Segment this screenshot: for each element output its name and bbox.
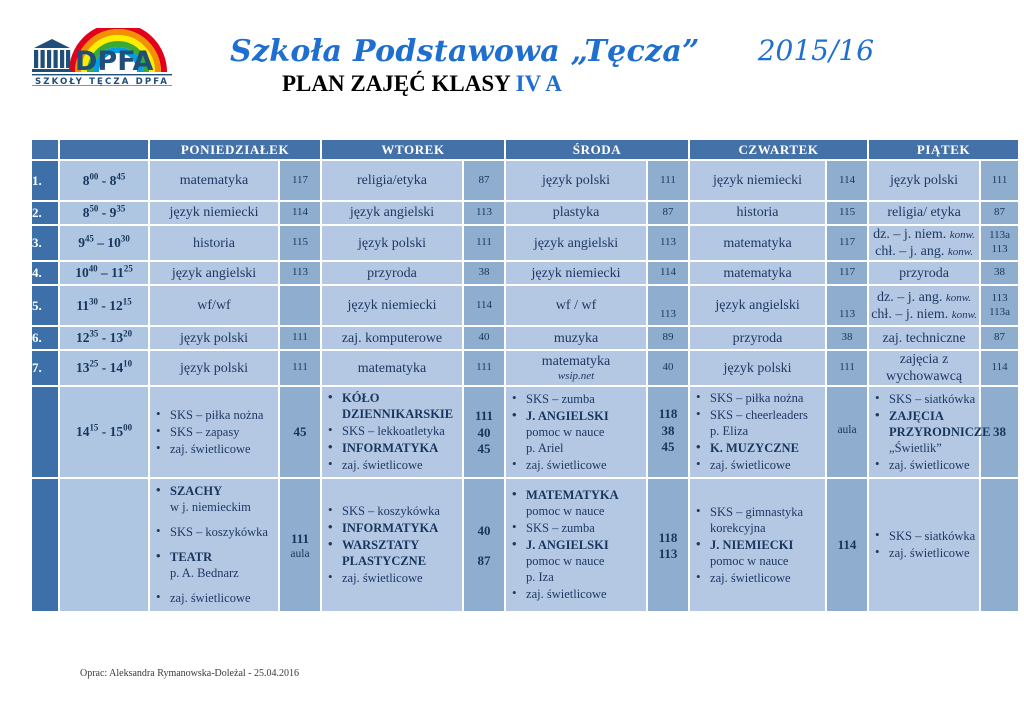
activity-list: SKS – siatkówkazaj. świetlicowe: [869, 528, 979, 561]
room-number: 118: [648, 530, 688, 546]
activity-room-cell: 4087: [464, 479, 504, 611]
lesson-time: 850 - 935: [60, 202, 148, 224]
activity-item: w j. niemieckim: [150, 499, 278, 515]
activity-item: SKS – zapasy: [150, 424, 278, 440]
lesson-subject-cell[interactable]: matematykawsip.net: [506, 351, 646, 385]
activity-room-cell: [981, 479, 1018, 611]
activity-item: K. MUZYCZNE: [690, 440, 825, 456]
lesson-subject-cell[interactable]: język polski: [506, 161, 646, 200]
lesson-subject-cell[interactable]: matematyka: [690, 226, 825, 260]
room-number-cell: 111: [280, 351, 320, 385]
plan-subtitle-prefix: PLAN ZAJĘĆ KLASY: [282, 71, 510, 96]
lesson-subject-cell[interactable]: język angielski: [150, 262, 278, 284]
activity-item: korekcyjna: [690, 520, 825, 536]
lesson-row: 5.1130 - 1215wf/wfjęzyk niemiecki114wf /…: [32, 286, 1018, 325]
lesson-subject-cell[interactable]: język polski: [690, 351, 825, 385]
activity-number: [32, 387, 58, 477]
lesson-subject-cell[interactable]: historia: [150, 226, 278, 260]
room-number-cell: 113a113: [981, 226, 1018, 260]
room-number-cell: 111: [648, 161, 688, 200]
document-header: DPFA SZKOŁY TĘCZA DPFA Szkoła Podstawowa…: [0, 0, 1024, 110]
lesson-number: 7.: [32, 351, 58, 385]
day-header-monday: PONIEDZIAŁEK: [150, 140, 320, 159]
activity-item: zaj. świetlicowe: [690, 457, 825, 473]
lesson-subject-cell[interactable]: zaj. komputerowe: [322, 327, 462, 349]
activity-item: SKS – cheerleaders: [690, 407, 825, 423]
activity-item: pomoc w nauce: [690, 553, 825, 569]
day-header-wednesday: ŚRODA: [506, 140, 688, 159]
timetable: PONIEDZIAŁEK WTOREK ŚRODA CZWARTEK PIĄTE…: [30, 138, 1020, 613]
activity-item: zaj. świetlicowe: [322, 457, 462, 473]
lesson-subject-cell[interactable]: język niemiecki: [506, 262, 646, 284]
activity-list: KÓŁODZIENNIKARSKIESKS – lekkoatletykaINF…: [322, 390, 462, 473]
room-number-cell: 87: [648, 202, 688, 224]
lesson-subject-cell[interactable]: język niemiecki: [150, 202, 278, 224]
room-number-cell: [280, 286, 320, 325]
activity-row: 1415 - 1500SKS – piłka nożnaSKS – zapasy…: [32, 387, 1018, 477]
activity-item: SKS – zumba: [506, 520, 646, 536]
class-name: IV A: [516, 71, 562, 96]
activity-time: [60, 479, 148, 611]
timetable-head: PONIEDZIAŁEK WTOREK ŚRODA CZWARTEK PIĄTE…: [32, 140, 1018, 159]
activity-item: DZIENNIKARSKIE: [322, 406, 462, 422]
activity-item: PRZYRODNICZE: [869, 424, 979, 440]
lesson-time: 800 - 845: [60, 161, 148, 200]
activity-room-cell: aula: [827, 387, 867, 477]
lesson-row: 1.800 - 845matematyka117religia/etyka87j…: [32, 161, 1018, 200]
lesson-number: 6.: [32, 327, 58, 349]
activity-item: SKS – koszykówka: [150, 524, 278, 540]
room-number: 113: [648, 546, 688, 562]
dpfa-rainbow-logo: DPFA SZKOŁY TĘCZA DPFA: [30, 28, 205, 86]
lesson-row: 6.1235 - 1320język polski111zaj. kompute…: [32, 327, 1018, 349]
lesson-subject-cell[interactable]: język angielski: [322, 202, 462, 224]
lesson-row: 2.850 - 935język niemiecki114język angie…: [32, 202, 1018, 224]
room-number-cell: 111: [464, 226, 504, 260]
room-number-cell: 114: [280, 202, 320, 224]
room-number: 38: [648, 423, 688, 439]
header-row: PONIEDZIAŁEK WTOREK ŚRODA CZWARTEK PIĄTE…: [32, 140, 1018, 159]
activity-list: SKS – gimnastykakorekcyjnaJ. NIEMIECKIpo…: [690, 504, 825, 586]
room-number: aula: [827, 423, 867, 437]
activity-list: SKS – piłka nożnaSKS – cheerleadersp. El…: [690, 390, 825, 473]
activity-item: zaj. świetlicowe: [150, 590, 278, 606]
activity-item: PLASTYCZNE: [322, 553, 462, 569]
school-title: Szkoła Podstawowa „Tęcza”: [230, 34, 700, 69]
activity-item: SKS – koszykówka: [322, 503, 462, 519]
room-number: 114: [827, 537, 867, 553]
title-block: Szkoła Podstawowa „Tęcza”2015/16 PLAN ZA…: [230, 34, 930, 97]
header-blank-time: [60, 140, 148, 159]
timetable-body: 1.800 - 845matematyka117religia/etyka87j…: [32, 161, 1018, 611]
activity-list: SKS – piłka nożnaSKS – zapasyzaj. świetl…: [150, 407, 278, 457]
lesson-subject-cell[interactable]: plastyka: [506, 202, 646, 224]
room-number-cell: 114: [648, 262, 688, 284]
room-number-cell: 113113a: [981, 286, 1018, 325]
activity-cell[interactable]: SKS – piłka nożnaSKS – zapasyzaj. świetl…: [150, 387, 278, 477]
activity-cell[interactable]: MATEMATYKApomoc w nauceSKS – zumbaJ. ANG…: [506, 479, 646, 611]
room-number-cell: 117: [827, 262, 867, 284]
lesson-row: 3.945 – 1030historia115język polski111ję…: [32, 226, 1018, 260]
activity-item: SKS – piłka nożna: [150, 407, 278, 423]
room-number-cell: 117: [827, 226, 867, 260]
lesson-subject-cell[interactable]: język polski: [869, 161, 979, 200]
room-number-cell: 89: [648, 327, 688, 349]
room-number-cell: 38: [981, 262, 1018, 284]
lesson-row: 7.1325 - 1410język polski111matematyka11…: [32, 351, 1018, 385]
activity-item: SKS – piłka nożna: [690, 390, 825, 406]
activity-item: TEATR: [150, 549, 278, 565]
lesson-subject-cell[interactable]: religia/etyka: [322, 161, 462, 200]
lesson-subject-cell[interactable]: wf / wf: [506, 286, 646, 325]
lesson-number: 1.: [32, 161, 58, 200]
activity-item: INFORMATYKA: [322, 520, 462, 536]
activity-item: „Świetlik”: [869, 440, 979, 456]
activity-cell[interactable]: SKS – gimnastykakorekcyjnaJ. NIEMIECKIpo…: [690, 479, 825, 611]
lesson-number: 4.: [32, 262, 58, 284]
header-blank-no: [32, 140, 58, 159]
lesson-subject-cell[interactable]: zaj. techniczne: [869, 327, 979, 349]
room-number-cell: 40: [648, 351, 688, 385]
lesson-subject-cell[interactable]: zajęcia zwychowawcą: [869, 351, 979, 385]
activity-item: p. A. Bednarz: [150, 565, 278, 581]
room-number-cell: 38: [464, 262, 504, 284]
activity-item: SKS – gimnastyka: [690, 504, 825, 520]
room-number-cell: 115: [280, 226, 320, 260]
room-number-cell: 87: [981, 202, 1018, 224]
activity-item: pomoc w nauce: [506, 553, 646, 569]
room-number-cell: 113: [648, 226, 688, 260]
lesson-subject-cell[interactable]: język angielski: [690, 286, 825, 325]
activity-item: INFORMATYKA: [322, 440, 462, 456]
activity-cell[interactable]: SKS – piłka nożnaSKS – cheerleadersp. El…: [690, 387, 825, 477]
lesson-number: 3.: [32, 226, 58, 260]
activity-item: ZAJĘCIA: [869, 408, 979, 424]
activity-item: p. Iza: [506, 569, 646, 585]
room-number-cell: 111: [981, 161, 1018, 200]
lesson-subject-cell[interactable]: przyroda: [322, 262, 462, 284]
footer-credit: Oprac: Aleksandra Rymanowska-Doleżal - 2…: [80, 668, 299, 679]
room-number: 45: [464, 441, 504, 457]
lesson-time: 1325 - 1410: [60, 351, 148, 385]
activity-list: SKS – koszykówkaINFORMATYKAWARSZTATYPLAS…: [322, 503, 462, 586]
lesson-subject-cell[interactable]: przyroda: [869, 262, 979, 284]
room-number: 111: [280, 531, 320, 547]
lesson-subject-cell[interactable]: język niemiecki: [690, 161, 825, 200]
logo-tagline-text: SZKOŁY TĘCZA DPFA: [35, 77, 169, 86]
lesson-time: 1235 - 1320: [60, 327, 148, 349]
lesson-subject-cell[interactable]: matematyka: [150, 161, 278, 200]
plan-subtitle: PLAN ZAJĘĆ KLASY IV A: [282, 71, 930, 97]
room-number-cell: 113: [648, 286, 688, 325]
activity-item: SKS – siatkówka: [869, 528, 979, 544]
room-number-cell: 114: [827, 161, 867, 200]
room-number-cell: 114: [464, 286, 504, 325]
lesson-number: 5.: [32, 286, 58, 325]
activity-item: pomoc w nauce: [506, 503, 646, 519]
activity-item: J. ANGIELSKI: [506, 537, 646, 553]
activity-cell[interactable]: SKS – zumbaJ. ANGIELSKIpomoc w naucep. A…: [506, 387, 646, 477]
room-number: 40: [464, 425, 504, 441]
activity-item: zaj. świetlicowe: [150, 441, 278, 457]
lesson-subject-cell[interactable]: język angielski: [506, 226, 646, 260]
activity-room-cell: 1183845: [648, 387, 688, 477]
activity-number: [32, 479, 58, 611]
lesson-subject-cell[interactable]: przyroda: [690, 327, 825, 349]
lesson-subject-cell[interactable]: matematyka: [322, 351, 462, 385]
room-number: 111: [464, 408, 504, 424]
activity-room-cell: 1114045: [464, 387, 504, 477]
room-number-cell: 114: [981, 351, 1018, 385]
room-number-cell: 113: [280, 262, 320, 284]
room-number-cell: 113: [827, 286, 867, 325]
activity-item: zaj. świetlicowe: [506, 586, 646, 602]
timetable-wrap: PONIEDZIAŁEK WTOREK ŚRODA CZWARTEK PIĄTE…: [30, 138, 994, 613]
activity-room-cell: 114: [827, 479, 867, 611]
activity-cell[interactable]: SKS – koszykówkaINFORMATYKAWARSZTATYPLAS…: [322, 479, 462, 611]
lesson-time: 945 – 1030: [60, 226, 148, 260]
room-number-cell: 113: [464, 202, 504, 224]
room-number: 40: [464, 523, 504, 539]
activity-cell[interactable]: KÓŁODZIENNIKARSKIESKS – lekkoatletykaINF…: [322, 387, 462, 477]
school-year: 2015/16: [758, 34, 874, 67]
room-number-cell: 111: [827, 351, 867, 385]
activity-item: MATEMATYKA: [506, 487, 646, 503]
lesson-row: 4.1040 – 1125język angielski113przyroda3…: [32, 262, 1018, 284]
logo-brand-text: DPFA: [75, 46, 154, 77]
lesson-subject-cell[interactable]: historia: [690, 202, 825, 224]
activity-item: zaj. świetlicowe: [869, 545, 979, 561]
activity-room-cell: 118113: [648, 479, 688, 611]
day-header-tuesday: WTOREK: [322, 140, 504, 159]
room-number-cell: 87: [464, 161, 504, 200]
activity-item: SKS – siatkówka: [869, 391, 979, 407]
activity-row: SZACHYw j. niemieckimSKS – koszykówkaTEA…: [32, 479, 1018, 611]
activity-item: zaj. świetlicowe: [869, 457, 979, 473]
activity-item: zaj. świetlicowe: [322, 570, 462, 586]
room-number-cell: 115: [827, 202, 867, 224]
activity-time: 1415 - 1500: [60, 387, 148, 477]
activity-list: MATEMATYKApomoc w nauceSKS – zumbaJ. ANG…: [506, 487, 646, 602]
activity-item: J. NIEMIECKI: [690, 537, 825, 553]
timetable-document: DPFA SZKOŁY TĘCZA DPFA Szkoła Podstawowa…: [0, 0, 1024, 725]
lesson-subject-cell[interactable]: język polski: [322, 226, 462, 260]
room-number: 118: [648, 406, 688, 422]
activity-cell[interactable]: SZACHYw j. niemieckimSKS – koszykówkaTEA…: [150, 479, 278, 611]
lesson-subject-cell[interactable]: język niemiecki: [322, 286, 462, 325]
room-number-cell: 111: [464, 351, 504, 385]
lesson-subject-cell[interactable]: wf/wf: [150, 286, 278, 325]
activity-item: zaj. świetlicowe: [506, 457, 646, 473]
activity-item: zaj. świetlicowe: [690, 570, 825, 586]
day-header-friday: PIĄTEK: [869, 140, 1018, 159]
lesson-subject-cell[interactable]: religia/ etyka: [869, 202, 979, 224]
activity-room-cell: 45: [280, 387, 320, 477]
room-number: aula: [280, 547, 320, 561]
lesson-subject-cell[interactable]: dz. – j. niem. konw.chł. – j. ang. konw.: [869, 226, 979, 260]
lesson-time: 1130 - 1215: [60, 286, 148, 325]
day-header-thursday: CZWARTEK: [690, 140, 867, 159]
activity-item: WARSZTATY: [322, 537, 462, 553]
activity-item: SKS – lekkoatletyka: [322, 423, 462, 439]
room-number-cell: 111: [280, 327, 320, 349]
lesson-subject-cell[interactable]: muzyka: [506, 327, 646, 349]
activity-item: J. ANGIELSKI: [506, 408, 646, 424]
activity-item: SZACHY: [150, 483, 278, 499]
room-number-cell: 38: [827, 327, 867, 349]
room-number-cell: 117: [280, 161, 320, 200]
activity-item: SKS – zumba: [506, 391, 646, 407]
lesson-subject-cell[interactable]: język polski: [150, 327, 278, 349]
activity-list: SKS – siatkówkaZAJĘCIAPRZYRODNICZE„Świet…: [869, 391, 979, 473]
activity-item: p. Eliza: [690, 423, 825, 439]
room-number-cell: 87: [981, 327, 1018, 349]
lesson-subject-cell[interactable]: język polski: [150, 351, 278, 385]
lesson-time: 1040 – 1125: [60, 262, 148, 284]
room-number: 45: [280, 424, 320, 440]
room-number-cell: 40: [464, 327, 504, 349]
activity-item: pomoc w nauce: [506, 424, 646, 440]
lesson-number: 2.: [32, 202, 58, 224]
activity-room-cell: 111aula: [280, 479, 320, 611]
lesson-subject-cell[interactable]: matematyka: [690, 262, 825, 284]
activity-item: p. Ariel: [506, 440, 646, 456]
activity-item: KÓŁO: [322, 390, 462, 406]
activity-list: SKS – zumbaJ. ANGIELSKIpomoc w naucep. A…: [506, 391, 646, 473]
activity-list: SZACHYw j. niemieckimSKS – koszykówkaTEA…: [150, 483, 278, 606]
room-number: 45: [648, 439, 688, 455]
lesson-subject-cell[interactable]: dz. – j. ang. konw.chł. – j. niem. konw.: [869, 286, 979, 325]
activity-cell[interactable]: SKS – siatkówkaZAJĘCIAPRZYRODNICZE„Świet…: [869, 387, 979, 477]
room-number: 87: [464, 553, 504, 569]
activity-cell[interactable]: SKS – siatkówkazaj. świetlicowe: [869, 479, 979, 611]
